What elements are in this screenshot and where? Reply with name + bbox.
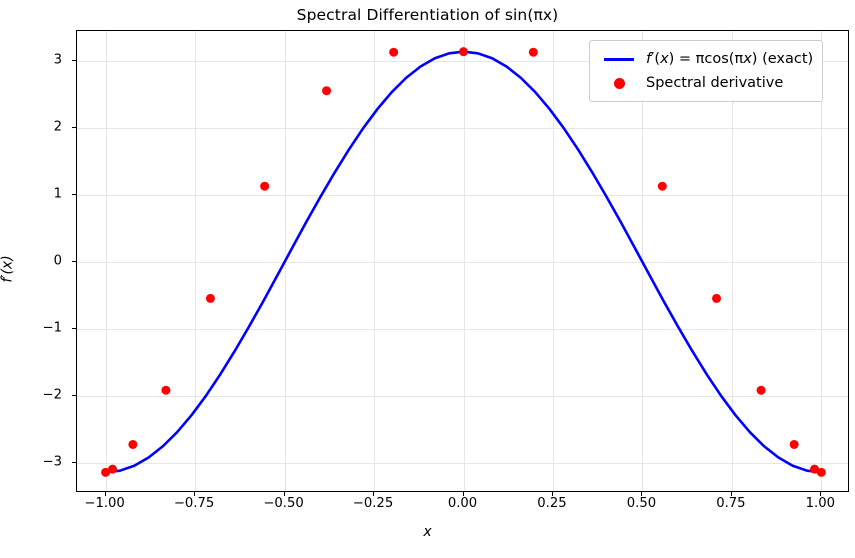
- legend-item-spectral: Spectral derivative: [598, 71, 813, 95]
- data-point-marker: [322, 86, 331, 95]
- y-tick-mark: [72, 261, 76, 262]
- data-point-marker: [459, 47, 468, 56]
- x-tick-label: 0.50: [627, 496, 656, 511]
- x-tick-mark: [463, 492, 464, 496]
- y-tick-mark: [72, 462, 76, 463]
- x-tick-label: −0.50: [263, 496, 303, 511]
- data-point-marker: [790, 440, 799, 449]
- x-tick-mark: [820, 492, 821, 496]
- legend: f′(x) = πcos(πx) (exact) Spectral deriva…: [589, 40, 823, 102]
- x-tick-label: 0.25: [537, 496, 566, 511]
- data-point-marker: [161, 386, 170, 395]
- y-tick-mark: [72, 194, 76, 195]
- y-tick-label: −2: [43, 387, 62, 402]
- data-point-marker: [712, 294, 721, 303]
- x-tick-mark: [552, 492, 553, 496]
- x-tick-mark: [641, 492, 642, 496]
- legend-line-swatch: [598, 58, 640, 61]
- data-point-marker: [128, 440, 137, 449]
- legend-item-exact: f′(x) = πcos(πx) (exact): [598, 47, 813, 71]
- x-tick-mark: [373, 492, 374, 496]
- y-tick-mark: [72, 60, 76, 61]
- legend-item-label: f′(x) = πcos(πx) (exact): [640, 51, 813, 67]
- x-tick-mark: [105, 492, 106, 496]
- y-tick-label: 0: [54, 254, 62, 269]
- x-tick-label: 1.00: [806, 496, 835, 511]
- data-point-marker: [529, 48, 538, 57]
- chart-title: Spectral Differentiation of sin(πx): [0, 6, 855, 24]
- spectral-derivative-markers: [101, 47, 826, 477]
- data-point-marker: [658, 182, 667, 191]
- x-axis-label: x: [0, 524, 855, 540]
- exact-curve-line: [106, 52, 822, 473]
- x-tick-label: −0.25: [353, 496, 393, 511]
- y-tick-label: 1: [54, 187, 62, 202]
- x-tick-mark: [284, 492, 285, 496]
- y-tick-label: 3: [54, 53, 62, 68]
- data-point-marker: [817, 468, 826, 477]
- y-tick-mark: [72, 328, 76, 329]
- x-tick-label: 0.00: [448, 496, 477, 511]
- y-tick-label: −1: [43, 320, 62, 335]
- x-tick-label: 0.75: [716, 496, 745, 511]
- data-point-marker: [389, 48, 398, 57]
- x-tick-mark: [731, 492, 732, 496]
- y-tick-label: 2: [54, 120, 62, 135]
- x-tick-mark: [194, 492, 195, 496]
- legend-item-label: Spectral derivative: [640, 75, 783, 91]
- data-point-marker: [757, 386, 766, 395]
- chart-figure: Spectral Differentiation of sin(πx) −1.0…: [0, 0, 855, 558]
- x-tick-label: −0.75: [174, 496, 214, 511]
- data-point-marker: [108, 465, 117, 474]
- y-axis-label: f′(x): [0, 255, 16, 282]
- y-tick-mark: [72, 127, 76, 128]
- y-tick-label: −3: [43, 454, 62, 469]
- legend-dot-swatch: [598, 78, 640, 89]
- data-point-marker: [206, 294, 215, 303]
- x-tick-label: −1.00: [84, 496, 124, 511]
- data-point-marker: [260, 182, 269, 191]
- y-tick-mark: [72, 395, 76, 396]
